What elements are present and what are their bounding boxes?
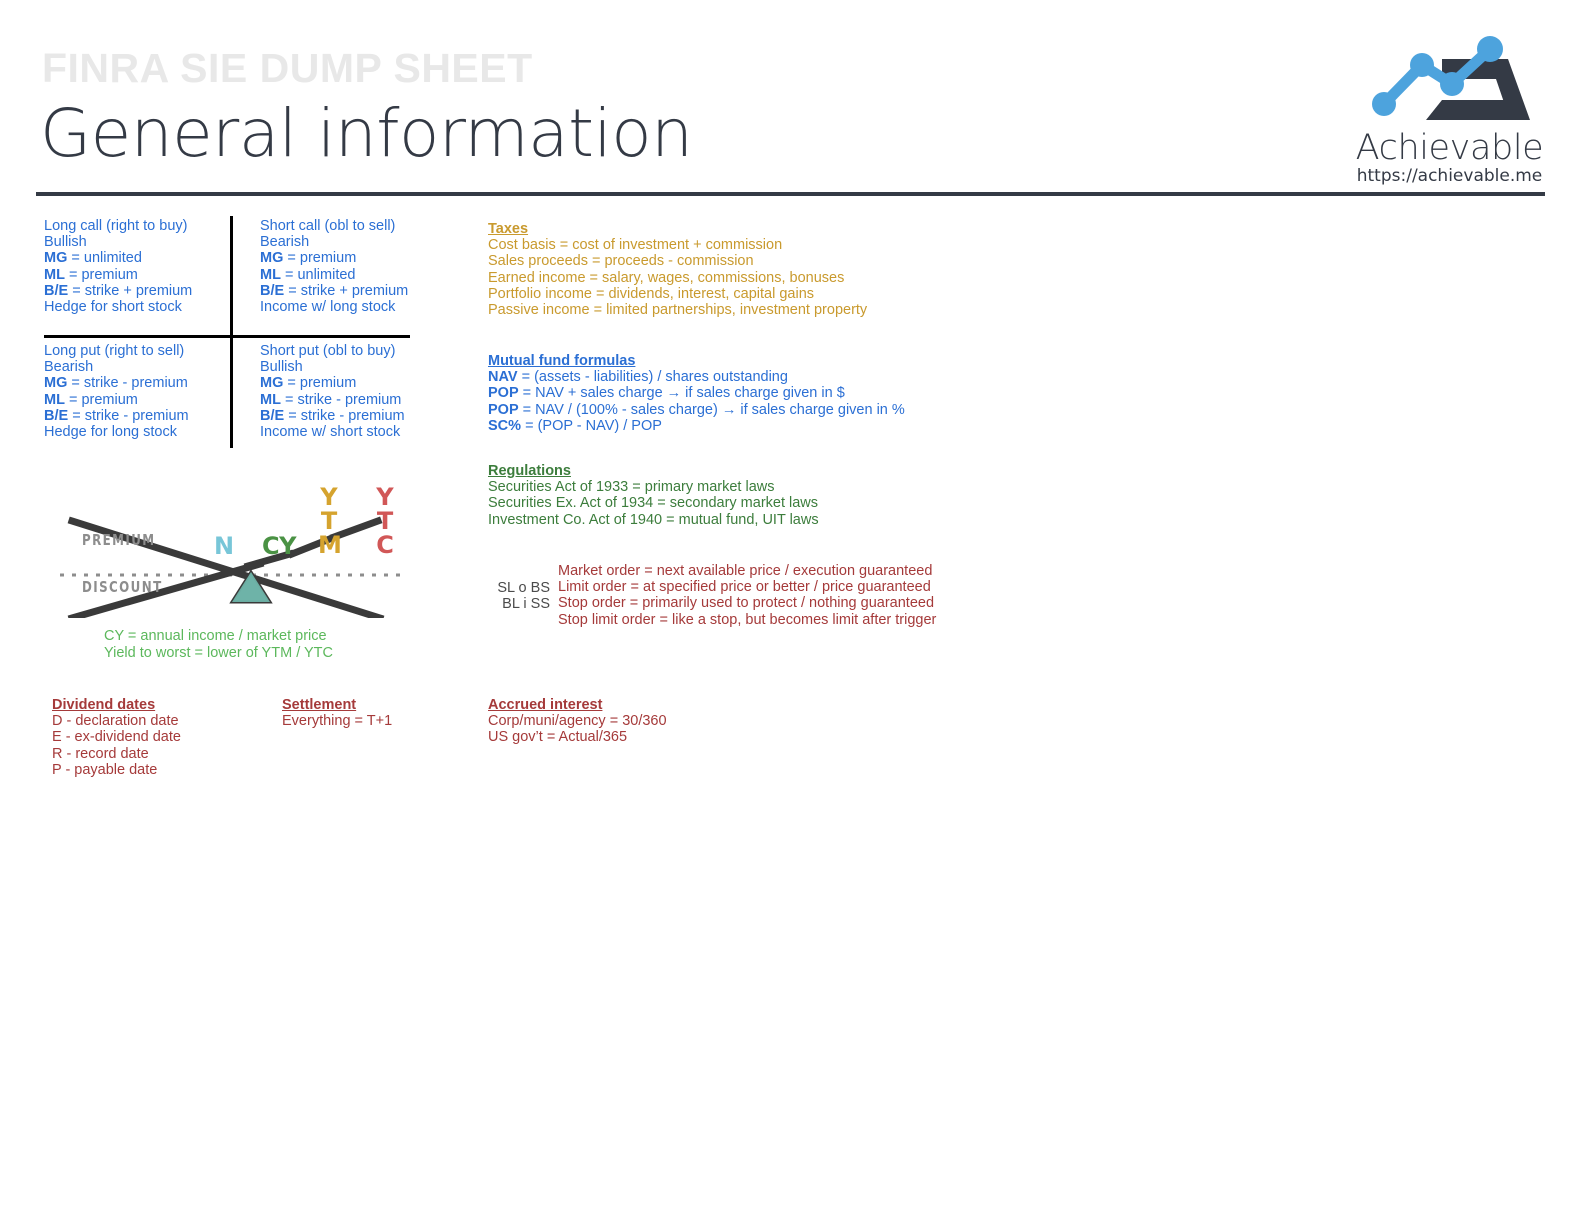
taxes-line: Sales proceeds = proceeds - commission (488, 253, 867, 269)
mg-value: = strike - premium (67, 375, 187, 391)
brand-logo: Achievable https://achievable.me (1352, 32, 1547, 182)
mg-label: MG (260, 375, 283, 391)
taxes-line: Passive income = limited partnerships, i… (488, 302, 867, 318)
order-mnemonic-line: BL i SS (488, 596, 550, 612)
option-max-gain: MG = strike - premium (44, 375, 219, 391)
ml-label: ML (44, 267, 65, 283)
taxes-line: Cost basis = cost of investment + commis… (488, 237, 867, 253)
ytc-letter: Y (374, 485, 396, 509)
formula-term: NAV (488, 369, 518, 385)
options-cell-short-put: Short put (obl to buy) Bullish MG = prem… (260, 343, 435, 440)
option-use: Income w/ short stock (260, 424, 435, 440)
settlement-section: Settlement Everything = T+1 (282, 697, 392, 729)
mutual-fund-line: SC% = (POP - NAV) / POP (488, 418, 905, 434)
taxes-line: Earned income = salary, wages, commissio… (488, 270, 867, 286)
be-label: B/E (260, 408, 284, 424)
accrued-interest-heading: Accrued interest (488, 697, 667, 713)
mutual-fund-line: NAV = (assets - liabilities) / shares ou… (488, 369, 905, 385)
ytc-letter: T (374, 509, 396, 533)
options-horizontal-divider (44, 335, 410, 338)
regulations-heading: Regulations (488, 463, 819, 479)
order-mnemonic-line: SL o BS (488, 580, 550, 596)
nominal-yield-label: N (214, 532, 234, 560)
order-line: Market order = next available price / ex… (558, 563, 936, 579)
ytc-label: Y T C (374, 485, 396, 557)
option-max-gain: MG = unlimited (44, 250, 219, 266)
accrued-interest-section: Accrued interest Corp/muni/agency = 30/3… (488, 697, 667, 746)
settlement-heading: Settlement (282, 697, 392, 713)
regulations-section: Regulations Securities Act of 1933 = pri… (488, 463, 819, 528)
options-quadrant-table: Long call (right to buy) Bullish MG = un… (44, 216, 414, 448)
option-use: Income w/ long stock (260, 299, 435, 315)
mg-value: = premium (283, 250, 356, 266)
option-max-gain: MG = premium (260, 250, 435, 266)
be-label: B/E (260, 283, 284, 299)
order-definitions: Market order = next available price / ex… (558, 563, 936, 628)
option-max-loss: ML = premium (44, 392, 219, 408)
option-use: Hedge for short stock (44, 299, 219, 315)
option-outlook: Bullish (260, 359, 435, 375)
mutual-fund-line: POP = NAV / (100% - sales charge) → if s… (488, 402, 905, 418)
ml-label: ML (260, 392, 281, 408)
regulations-line: Investment Co. Act of 1940 = mutual fund… (488, 512, 819, 528)
option-breakeven: B/E = strike - premium (44, 408, 219, 424)
mg-value: = premium (283, 375, 356, 391)
ytm-letter: T (318, 509, 340, 533)
ytm-letter: M (318, 533, 340, 557)
logo-url[interactable]: https://achievable.me (1352, 166, 1547, 186)
option-title: Long put (right to sell) (44, 343, 219, 359)
dividend-dates-section: Dividend dates D - declaration date E - … (52, 697, 181, 778)
option-max-loss: ML = premium (44, 267, 219, 283)
dump-sheet-page: FINRA SIE DUMP SHEET General information… (0, 0, 1586, 1226)
premium-label: PREMIUM (82, 531, 156, 549)
ytm-letter: Y (318, 485, 340, 509)
yield-seesaw-diagram: PREMIUM DISCOUNT N CY Y T M Y T C (60, 488, 410, 618)
be-value: = strike + premium (284, 283, 408, 299)
mutual-fund-line: POP = NAV + sales charge → if sales char… (488, 385, 905, 401)
mg-label: MG (44, 250, 67, 266)
option-outlook: Bullish (44, 234, 219, 250)
formula-term: POP (488, 402, 519, 418)
options-cell-long-call: Long call (right to buy) Bullish MG = un… (44, 218, 219, 315)
mutual-fund-formulas-section: Mutual fund formulas NAV = (assets - lia… (488, 353, 905, 434)
taxes-section: Taxes Cost basis = cost of investment + … (488, 221, 867, 318)
option-breakeven: B/E = strike - premium (260, 408, 435, 424)
option-max-loss: ML = unlimited (260, 267, 435, 283)
ml-value: = strike - premium (281, 392, 401, 408)
yield-note-line: CY = annual income / market price (104, 628, 333, 645)
order-mnemonic: SL o BS BL i SS (488, 580, 550, 612)
ml-value: = premium (65, 267, 138, 283)
order-line: Stop order = primarily used to protect /… (558, 595, 936, 611)
regulations-line: Securities Ex. Act of 1934 = secondary m… (488, 495, 819, 511)
line-chart-mountain-logo-icon (1360, 32, 1540, 130)
options-vertical-divider (230, 216, 233, 448)
dividend-date-line: D - declaration date (52, 713, 181, 729)
formula-term: POP (488, 385, 519, 401)
order-line: Limit order = at specified price or bett… (558, 579, 936, 595)
option-title: Short call (obl to sell) (260, 218, 435, 234)
accrued-interest-line: US gov’t = Actual/365 (488, 729, 667, 745)
formula-term: SC% (488, 418, 521, 434)
options-cell-short-call: Short call (obl to sell) Bearish MG = pr… (260, 218, 435, 315)
settlement-line: Everything = T+1 (282, 713, 392, 729)
be-label: B/E (44, 283, 68, 299)
option-max-gain: MG = premium (260, 375, 435, 391)
page-kicker: FINRA SIE DUMP SHEET (42, 45, 533, 92)
options-cell-long-put: Long put (right to sell) Bearish MG = st… (44, 343, 219, 440)
dividend-date-line: E - ex-dividend date (52, 729, 181, 745)
be-label: B/E (44, 408, 68, 424)
header-divider (36, 192, 1545, 196)
yield-note-line: Yield to worst = lower of YTM / YTC (104, 645, 333, 662)
current-yield-label: CY (262, 532, 296, 560)
regulations-line: Securities Act of 1933 = primary market … (488, 479, 819, 495)
ml-value: = premium (65, 392, 138, 408)
ml-label: ML (260, 267, 281, 283)
option-title: Short put (obl to buy) (260, 343, 435, 359)
ml-label: ML (44, 392, 65, 408)
dividend-date-line: P - payable date (52, 762, 181, 778)
taxes-heading: Taxes (488, 221, 867, 237)
mg-label: MG (44, 375, 67, 391)
be-value: = strike - premium (68, 408, 188, 424)
option-breakeven: B/E = strike + premium (260, 283, 435, 299)
order-line: Stop limit order = like a stop, but beco… (558, 612, 936, 628)
logo-wordmark: Achievable (1352, 128, 1547, 168)
dividend-date-line: R - record date (52, 746, 181, 762)
mg-label: MG (260, 250, 283, 266)
ml-value: = unlimited (281, 267, 356, 283)
ytm-label: Y T M (318, 485, 340, 557)
option-breakeven: B/E = strike + premium (44, 283, 219, 299)
ytc-letter: C (374, 533, 396, 557)
dividend-dates-heading: Dividend dates (52, 697, 181, 713)
option-outlook: Bearish (44, 359, 219, 375)
option-use: Hedge for long stock (44, 424, 219, 440)
mutual-fund-heading: Mutual fund formulas (488, 353, 905, 369)
option-title: Long call (right to buy) (44, 218, 219, 234)
yield-diagram-notes: CY = annual income / market price Yield … (104, 628, 333, 662)
formula-body: = NAV + sales charge → if sales charge g… (519, 385, 845, 401)
mg-value: = unlimited (67, 250, 142, 266)
formula-body: = (assets - liabilities) / shares outsta… (518, 369, 788, 385)
discount-label: DISCOUNT (82, 578, 163, 596)
formula-body: = NAV / (100% - sales charge) → if sales… (519, 402, 905, 418)
be-value: = strike + premium (68, 283, 192, 299)
accrued-interest-line: Corp/muni/agency = 30/360 (488, 713, 667, 729)
option-outlook: Bearish (260, 234, 435, 250)
option-max-loss: ML = strike - premium (260, 392, 435, 408)
page-title: General information (40, 95, 693, 172)
taxes-line: Portfolio income = dividends, interest, … (488, 286, 867, 302)
be-value: = strike - premium (284, 408, 404, 424)
formula-body: = (POP - NAV) / POP (521, 418, 662, 434)
